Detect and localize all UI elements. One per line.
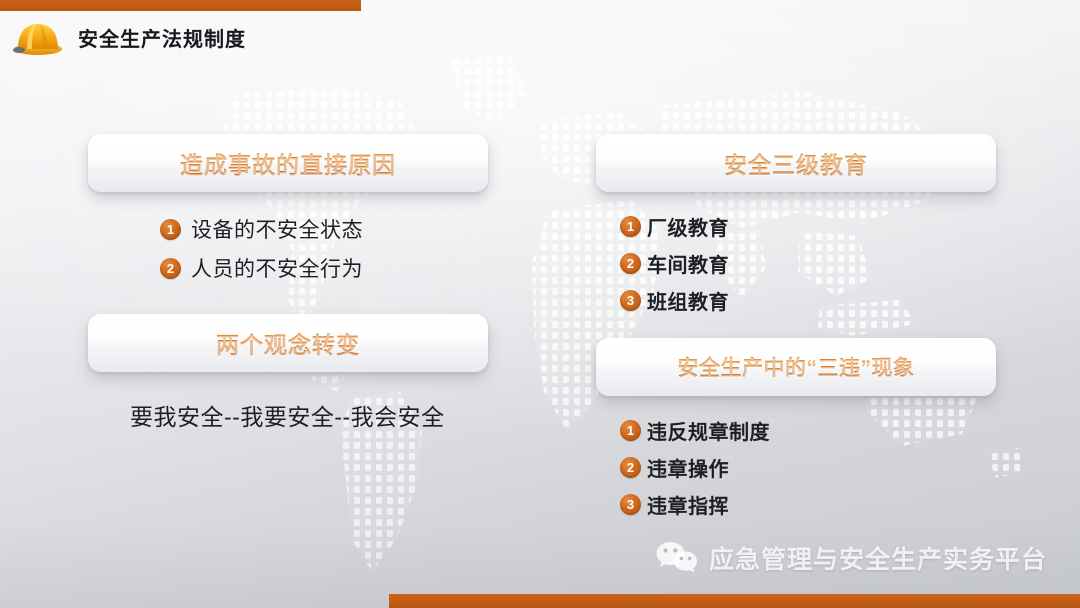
bullet-number-icon: 2 (160, 258, 181, 279)
list-item-label: 违章操作 (647, 453, 729, 482)
card-header-three-violations[interactable]: 安全生产中的“三违”现象 (596, 338, 996, 396)
list-item: 1 厂级教育 (620, 212, 996, 241)
page-title: 安全生产法规制度 (78, 23, 246, 52)
list-item: 2 车间教育 (620, 249, 996, 278)
card-header-direct-causes[interactable]: 造成事故的直接原因 (88, 134, 488, 192)
list-item-label: 人员的不安全行为 (191, 253, 363, 283)
list-item-label: 车间教育 (647, 249, 729, 278)
list-item-label: 设备的不安全状态 (191, 214, 363, 244)
block-direct-causes: 造成事故的直接原因 1 设备的不安全状态 2 人员的不安全行为 (88, 134, 488, 283)
list-item: 3 违章指挥 (620, 490, 996, 519)
block-three-violations: 安全生产中的“三违”现象 1 违反规章制度 2 违章操作 3 违章指挥 (596, 338, 996, 519)
list-three-violations: 1 违反规章制度 2 违章操作 3 违章指挥 (596, 416, 996, 519)
block-three-level-education: 安全三级教育 1 厂级教育 2 车间教育 3 班组教育 (596, 134, 996, 315)
list-direct-causes: 1 设备的不安全状态 2 人员的不安全行为 (88, 214, 488, 283)
bottom-accent-bar (389, 594, 1080, 608)
left-column: 造成事故的直接原因 1 设备的不安全状态 2 人员的不安全行为 两个观念转变 要… (88, 134, 488, 432)
hard-hat-icon (10, 18, 66, 56)
slide-header: 安全生产法规制度 (0, 14, 246, 60)
wechat-account-name: 应急管理与安全生产实务平台 (709, 540, 1047, 576)
list-item: 2 违章操作 (620, 453, 996, 482)
list-item: 3 班组教育 (620, 286, 996, 315)
card-header-concept-change[interactable]: 两个观念转变 (88, 314, 488, 372)
bullet-number-icon: 2 (620, 253, 641, 274)
bullet-number-icon: 3 (620, 290, 641, 311)
wechat-watermark: 应急管理与安全生产实务平台 (655, 540, 1047, 576)
slide-canvas: 安全生产法规制度 造成事故的直接原因 1 设备的不安全状态 2 人员的不安全行为… (0, 0, 1080, 608)
card-title: 造成事故的直接原因 (180, 146, 396, 180)
concept-change-text: 要我安全--我要安全--我会安全 (88, 398, 488, 432)
list-item-label: 违反规章制度 (647, 416, 770, 445)
card-header-three-level-education[interactable]: 安全三级教育 (596, 134, 996, 192)
bullet-number-icon: 3 (620, 494, 641, 515)
bullet-number-icon: 1 (620, 420, 641, 441)
list-item-label: 班组教育 (647, 286, 729, 315)
list-item: 2 人员的不安全行为 (160, 253, 488, 283)
list-three-level-education: 1 厂级教育 2 车间教育 3 班组教育 (596, 212, 996, 315)
list-item: 1 设备的不安全状态 (160, 214, 488, 244)
right-column: 安全三级教育 1 厂级教育 2 车间教育 3 班组教育 安全生产中的“三违”现 (596, 134, 996, 527)
top-accent-bar (0, 0, 361, 11)
list-item-label: 违章指挥 (647, 490, 729, 519)
bullet-number-icon: 1 (620, 216, 641, 237)
list-item: 1 违反规章制度 (620, 416, 996, 445)
wechat-icon (655, 540, 697, 576)
bullet-number-icon: 2 (620, 457, 641, 478)
card-title: 安全生产中的“三违”现象 (678, 352, 915, 382)
card-title: 安全三级教育 (724, 146, 868, 180)
bullet-number-icon: 1 (160, 219, 181, 240)
list-item-label: 厂级教育 (647, 212, 729, 241)
card-title: 两个观念转变 (216, 326, 360, 360)
block-concept-change: 两个观念转变 要我安全--我要安全--我会安全 (88, 314, 488, 432)
